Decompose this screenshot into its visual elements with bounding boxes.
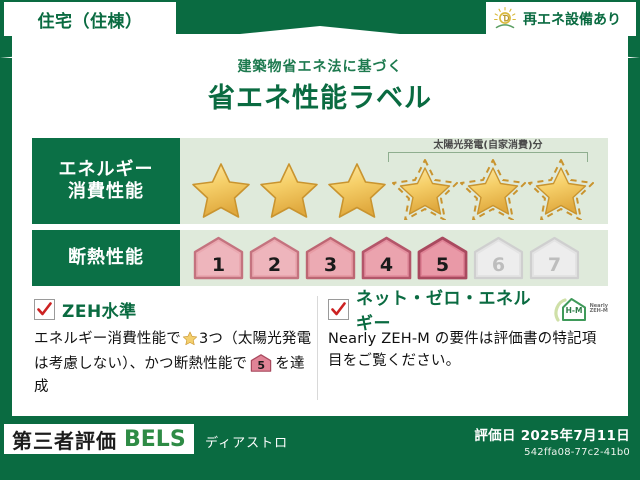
bels-jp-label: 第三者評価 <box>12 425 117 454</box>
renewable-energy-badge: 再エネ設備あり <box>486 2 636 36</box>
energy-performance-row: エネルギー 消費性能 太陽光発電(自家消費)分 <box>32 138 608 224</box>
insulation-level-6: 6 <box>472 236 525 280</box>
building-name: ディアストロ <box>205 432 288 451</box>
insulation-level-value: 4 <box>380 254 393 280</box>
label-card: 建築物省エネ法に基づく 省エネ性能ラベル エネルギー 消費性能 太陽光発電(自家… <box>12 34 628 416</box>
solar-star-icon <box>460 158 526 220</box>
energy-performance-body: 太陽光発電(自家消費)分 <box>180 138 608 224</box>
insulation-performance-tag: 断熱性能 <box>32 230 180 286</box>
insulation-performance-row: 断熱性能 1 <box>32 230 608 286</box>
star-icon <box>188 158 254 220</box>
building-type-label: 住宅（住棟） <box>38 7 143 32</box>
renewable-badge-label: 再エネ設備あり <box>523 9 621 29</box>
zeh-standard-head: ZEH水準 <box>34 296 314 322</box>
solar-star-icon <box>392 158 458 220</box>
checkmark-icon <box>34 299 55 320</box>
energy-performance-tag: エネルギー 消費性能 <box>32 138 180 224</box>
energy-label-line2: 消費性能 <box>68 181 144 204</box>
evaluation-date: 評価日 2025年7月11日 <box>474 424 630 444</box>
insulation-level-value: 3 <box>324 254 337 280</box>
star-icon <box>256 158 322 220</box>
note-divider <box>317 296 318 400</box>
building-type-tag: 住宅（住棟） <box>4 2 176 36</box>
footer-band: 第三者評価 BELS ディアストロ 評価日 2025年7月11日 542ffa0… <box>0 416 640 480</box>
zeh-body-part1: エネルギー消費性能で <box>34 331 181 347</box>
zeh-body-star-count: 3つ（太陽光発電 <box>199 331 311 347</box>
bels-certification-box: 第三者評価 BELS <box>4 424 194 454</box>
insulation-level-value: 1 <box>212 254 225 280</box>
net-zero-body: Nearly ZEH-M の要件は評価書の特記項目をご覧ください。 <box>328 328 608 373</box>
insulation-level-value: 2 <box>268 254 281 280</box>
zeh-m-caption-2: ZEH-M <box>590 309 608 314</box>
zeh-standard-body: エネルギー消費性能で3つ（太陽光発電 は考慮しない）、かつ断熱性能で5を達成 <box>34 328 314 398</box>
energy-performance-label: 住宅（住棟） 再エネ設備あり 建築物省エネ法に基づく <box>0 0 640 480</box>
insulation-label: 断熱性能 <box>68 247 144 270</box>
document-id: 542ffa08-77c2-41b0 <box>474 447 630 458</box>
insulation-level-scale: 1 2 3 <box>192 236 581 280</box>
net-zero-energy-note: ネット・ゼロ・エネルギー H-M Nearly ZEH-M Nearly ZEH… <box>328 296 608 400</box>
solar-bracket-label: 太陽光発電(自家消費)分 <box>378 136 598 151</box>
insulation-level-value: 7 <box>548 254 561 280</box>
evaluation-meta: 評価日 2025年7月11日 542ffa08-77c2-41b0 <box>474 424 630 458</box>
bels-en-label: BELS <box>124 427 186 452</box>
sun-icon <box>492 6 518 32</box>
insulation-level-value: 5 <box>436 254 449 280</box>
insulation-level-3: 3 <box>304 236 357 280</box>
inline-house-icon: 5 <box>249 354 273 372</box>
zeh-m-logo-icon: H-M Nearly ZEH-M <box>554 296 608 322</box>
net-zero-head: ネット・ゼロ・エネルギー H-M Nearly ZEH-M <box>328 296 608 322</box>
insulation-level-2: 2 <box>248 236 301 280</box>
star-rating <box>188 158 594 220</box>
star-icon <box>324 158 390 220</box>
insulation-level-4: 4 <box>360 236 413 280</box>
checkmark-icon <box>328 299 349 320</box>
insulation-level-value: 6 <box>492 254 505 280</box>
zeh-standard-note: ZEH水準 エネルギー消費性能で3つ（太陽光発電 は考慮しない）、かつ断熱性能で… <box>34 296 314 400</box>
net-zero-title: ネット・ゼロ・エネルギー <box>356 284 543 334</box>
zeh-standard-title: ZEH水準 <box>62 297 137 322</box>
insulation-level-7: 7 <box>528 236 581 280</box>
svg-text:H-M: H-M <box>565 306 582 315</box>
insulation-performance-body: 1 2 3 <box>180 230 608 286</box>
inline-house-value: 5 <box>249 357 273 374</box>
label-title: 省エネ性能ラベル <box>12 76 628 115</box>
label-subtitle: 建築物省エネ法に基づく <box>12 56 628 76</box>
energy-label-line1: エネルギー <box>59 159 154 182</box>
insulation-level-5: 5 <box>416 236 469 280</box>
inline-star-icon <box>182 330 198 353</box>
insulation-level-1: 1 <box>192 236 245 280</box>
zeh-body-part2: は考慮しない）、かつ断熱性能で <box>34 356 247 372</box>
solar-star-icon <box>528 158 594 220</box>
